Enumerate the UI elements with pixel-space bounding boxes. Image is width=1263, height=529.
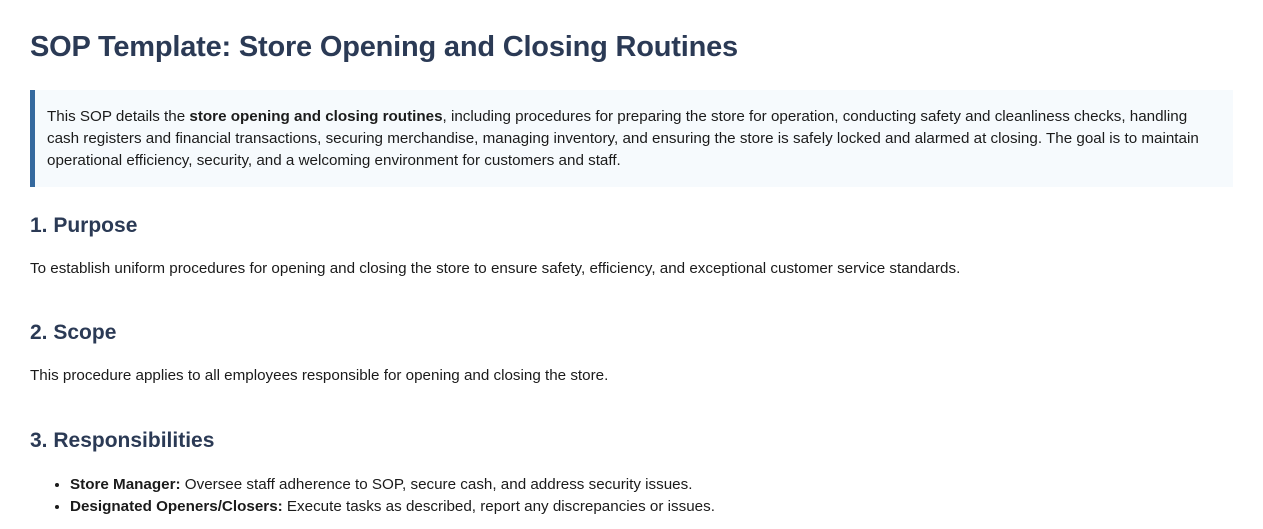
summary-lead-text: This SOP details the — [47, 108, 189, 125]
section-body-scope: This procedure applies to all employees … — [30, 365, 1233, 387]
section-responsibilities: 3. Responsibilities Store Manager: Overs… — [30, 428, 1233, 519]
document-page: SOP Template: Store Opening and Closing … — [0, 0, 1263, 518]
section-body-purpose: To establish uniform procedures for open… — [30, 258, 1233, 280]
section-heading-purpose: 1. Purpose — [30, 213, 1233, 238]
summary-emphasis-text: store opening and closing routines — [189, 108, 442, 125]
responsibility-role: Store Manager: — [70, 476, 181, 493]
section-scope: 2. Scope This procedure applies to all e… — [30, 320, 1233, 387]
section-heading-responsibilities: 3. Responsibilities — [30, 428, 1233, 453]
responsibility-description: Execute tasks as described, report any d… — [283, 498, 715, 515]
responsibility-role: Designated Openers/Closers: — [70, 498, 283, 515]
summary-callout: This SOP details the store opening and c… — [30, 90, 1233, 187]
responsibility-description: Oversee staff adherence to SOP, secure c… — [181, 476, 693, 493]
responsibilities-list: Store Manager: Oversee staff adherence t… — [30, 474, 1233, 519]
summary-callout-text: This SOP details the store opening and c… — [47, 106, 1219, 171]
page-title: SOP Template: Store Opening and Closing … — [30, 0, 1233, 64]
list-item: Store Manager: Oversee staff adherence t… — [70, 474, 1233, 496]
section-purpose: 1. Purpose To establish uniform procedur… — [30, 213, 1233, 280]
section-heading-scope: 2. Scope — [30, 320, 1233, 345]
list-item: Designated Openers/Closers: Execute task… — [70, 496, 1233, 518]
